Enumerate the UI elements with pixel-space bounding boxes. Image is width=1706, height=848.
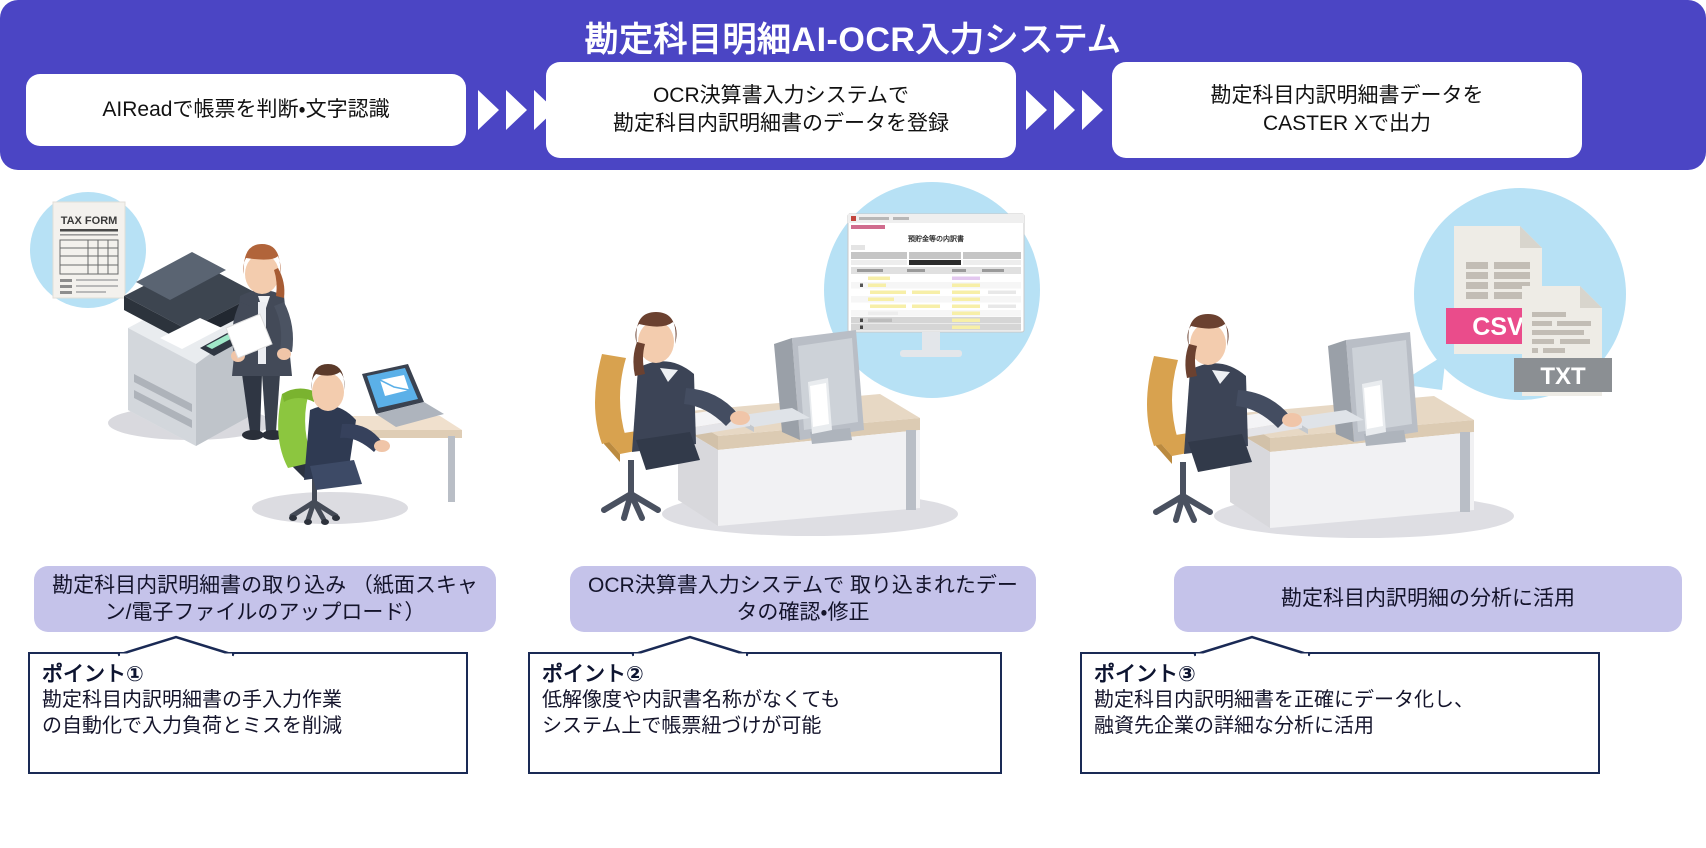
tax-form-label: TAX FORM [61,215,118,227]
point-callout-1: ポイント① 勘定科目内訳明細書の手入力作業 の自動化で入力負荷とミスを削減 [28,652,468,774]
point-1-title: ポイント① [42,663,454,687]
point-3-body: 勘定科目内訳明細書を正確にデータ化し、 融資先企業の詳細な分析に活用 [1094,688,1586,739]
step-box-1[interactable]: AIReadで帳票を判断・文字認識 [26,74,466,146]
scene-printer-scan: TAX FORM [10,178,530,563]
tablet-device [1362,380,1386,436]
caption-3-line-1: 勘定科目内訳明細の分析に活用 [1281,587,1575,610]
caption-1-line-1: 勘定科目内訳明細書の取り込み [52,574,346,597]
triangle-right-icon [506,90,527,130]
callout-notch-icon [1194,637,1310,656]
step-2-line-1: OCR決算書入力システムで [613,82,949,110]
arrow-group-2 [1026,90,1103,130]
triangle-right-icon [478,90,499,130]
txt-badge-label: TXT [1540,363,1586,390]
callout-notch-icon [118,637,234,656]
point-2-title: ポイント② [542,663,988,687]
point-2-line-2: システム上で帳票紐づけが可能 [542,714,988,740]
app-screen-title: 預貯金等の内訳書 [908,234,964,243]
caption-bar-2: OCR決算書入力システムで 取り込まれたデータの確認・修正 [570,566,1036,632]
point-3-line-2: 融資先企業の詳細な分析に活用 [1094,714,1586,740]
scene-operator-desktop: 預貯金等の内訳書 [560,178,1080,563]
step-box-3[interactable]: 勘定科目内訳明細書データを CASTER Xで出力 [1112,62,1582,158]
operator-desktop-illustration: 預貯金等の内訳書 [560,178,1080,563]
scene-export: CSV TXT [1110,178,1670,563]
csv-badge-label: CSV [1472,313,1524,341]
caption-2-line-1: OCR決算書入力システムで [588,574,844,597]
point-2-body: 低解像度や内訳書名称がなくても システム上で帳票紐づけが可能 [542,688,988,739]
triangle-right-icon [1054,90,1075,130]
printer-scan-illustration: TAX FORM [10,178,530,563]
app-screen-mock: 預貯金等の内訳書 [848,214,1024,332]
diagram-root: 勘定科目明細AI-OCR入力システム AIReadで帳票を判断・文字認識 OCR… [0,0,1706,848]
caption-bar-3: 勘定科目内訳明細の分析に活用 [1174,566,1682,632]
arrow-group-1 [478,90,555,130]
triangle-right-icon [1082,90,1103,130]
point-callout-3: ポイント③ 勘定科目内訳明細書を正確にデータ化し、 融資先企業の詳細な分析に活用 [1080,652,1600,774]
step-1-line-1: AIReadで帳票を判断・文字認識 [102,96,389,124]
point-callout-2: ポイント② 低解像度や内訳書名称がなくても システム上で帳票紐づけが可能 [528,652,1002,774]
point-3-line-1: 勘定科目内訳明細書を正確にデータ化し、 [1094,688,1586,714]
step-3-line-1: 勘定科目内訳明細書データを [1211,82,1484,110]
tablet-device [808,378,832,434]
step-2-line-2: 勘定科目内訳明細書のデータを登録 [613,110,949,138]
point-1-body: 勘定科目内訳明細書の手入力作業 の自動化で入力負荷とミスを削減 [42,688,454,739]
export-illustration: CSV TXT [1110,178,1670,563]
tax-form-document: TAX FORM [53,202,125,298]
step-3-line-2: CASTER Xで出力 [1211,110,1484,138]
point-3-title: ポイント③ [1094,663,1586,687]
caption-bar-1: 勘定科目内訳明細書の取り込み （紙面スキャン/電子ファイルのアップロード） [34,566,496,632]
point-2-line-1: 低解像度や内訳書名称がなくても [542,688,988,714]
step-box-2[interactable]: OCR決算書入力システムで 勘定科目内訳明細書のデータを登録 [546,62,1016,158]
header-banner: 勘定科目明細AI-OCR入力システム AIReadで帳票を判断・文字認識 OCR… [0,0,1706,170]
page-title: 勘定科目明細AI-OCR入力システム [0,12,1706,61]
point-1-line-2: の自動化で入力負荷とミスを削減 [42,714,454,740]
point-1-line-1: 勘定科目内訳明細書の手入力作業 [42,688,454,714]
process-step-row: AIReadで帳票を判断・文字認識 OCR決算書入力システムで 勘定科目内訳明細… [0,62,1706,158]
callout-notch-icon [632,637,748,656]
triangle-right-icon [1026,90,1047,130]
